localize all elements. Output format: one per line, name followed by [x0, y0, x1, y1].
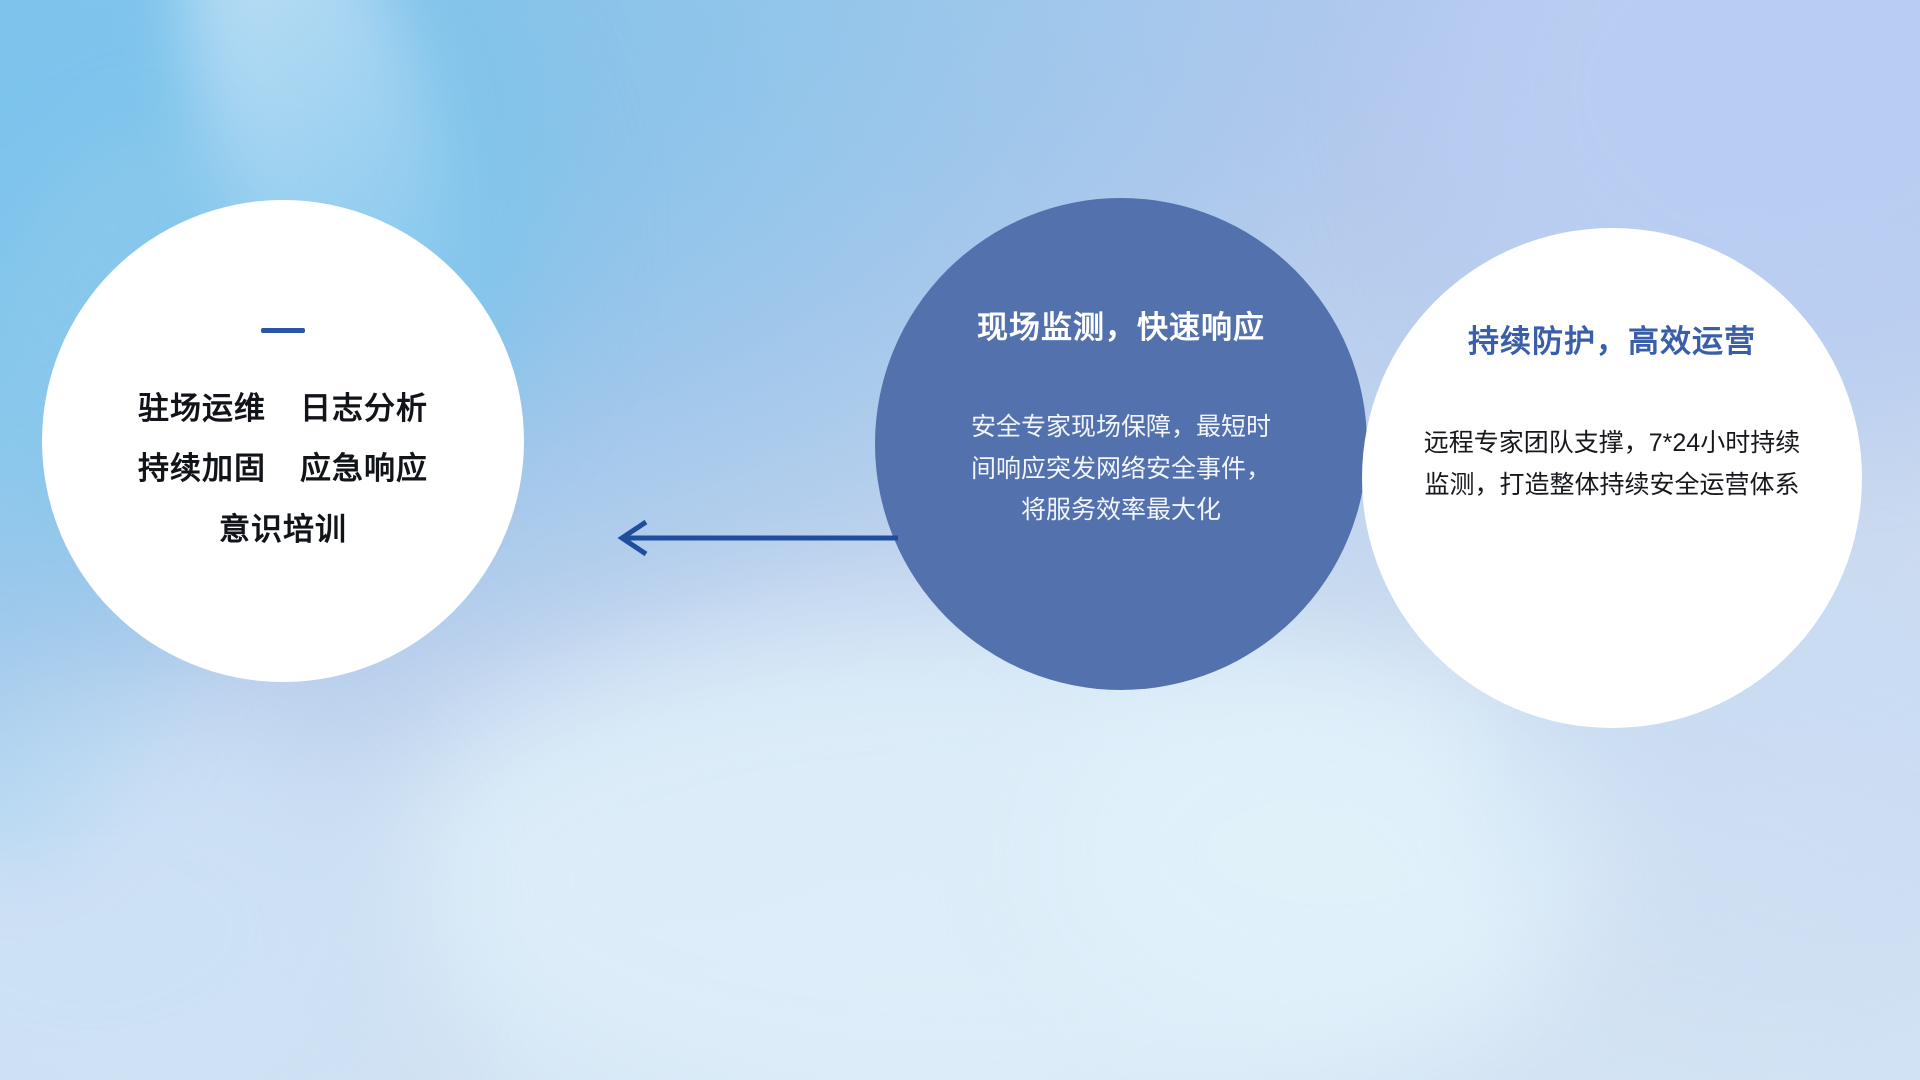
background-blob-bottom-right [1050, 660, 1610, 1040]
keyword-chip: 驻场运维 [138, 379, 266, 439]
background-blob-bottom-center [380, 620, 1530, 1080]
onsite-monitoring-body: 安全专家现场保障，最短时间响应突发网络安全事件，将服务效率最大化 [961, 407, 1281, 532]
continuous-protection-circle: 持续防护，高效运营 远程专家团队支撑，7*24小时持续监测，打造整体持续安全运营… [1362, 228, 1862, 728]
background-blob-bottom-left [0, 700, 400, 1080]
continuous-protection-body: 远程专家团队支撑，7*24小时持续监测，打造整体持续安全运营体系 [1412, 423, 1812, 506]
flow-arrow-left-icon [600, 516, 900, 560]
keyword-row: 持续加固 应急响应 [138, 439, 428, 499]
slide-canvas: 驻场运维 日志分析 持续加固 应急响应 意识培训 现场监测，快速响应 安全专家现… [0, 0, 1920, 1080]
keyword-chip: 意识培训 [219, 500, 347, 560]
onsite-monitoring-circle: 现场监测，快速响应 安全专家现场保障，最短时间响应突发网络安全事件，将服务效率最… [875, 198, 1367, 690]
left-keyword-circle: 驻场运维 日志分析 持续加固 应急响应 意识培训 [42, 200, 524, 682]
divider-dash-icon [261, 328, 305, 333]
keyword-chip: 日志分析 [300, 379, 428, 439]
keyword-row: 驻场运维 日志分析 [138, 379, 428, 439]
keyword-row: 意识培训 [219, 500, 347, 560]
keyword-chip: 持续加固 [138, 439, 266, 499]
onsite-monitoring-title: 现场监测，快速响应 [977, 302, 1265, 347]
keyword-chip: 应急响应 [300, 439, 428, 499]
continuous-protection-title: 持续防护，高效运营 [1468, 316, 1756, 361]
